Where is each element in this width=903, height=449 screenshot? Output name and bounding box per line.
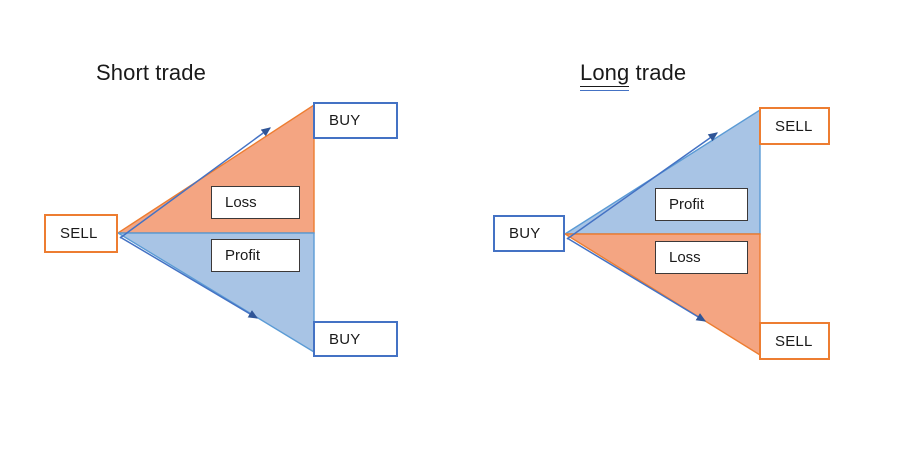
long-trade-profit-label: Profit [669, 196, 704, 213]
long-trade-upper-exit-sell-label: SELL [775, 118, 813, 135]
long-trade-upper-exit-sell-box[interactable]: SELL [759, 107, 830, 145]
long-trade-loss-label-box: Loss [655, 241, 748, 274]
short-trade-loss-label-box: Loss [211, 186, 300, 219]
long-trade-loss-label: Loss [669, 249, 701, 266]
diagram-canvas: Short trade SELL BUY BUY [0, 0, 903, 449]
panel-long-trade: Long trade BUY SELL SELL [452, 0, 903, 449]
short-trade-upper-exit-buy-label: BUY [329, 112, 360, 129]
long-trade-entry-buy-box[interactable]: BUY [493, 215, 565, 252]
long-trade-profit-label-box: Profit [655, 188, 748, 221]
short-trade-profit-label: Profit [225, 247, 260, 264]
short-trade-entry-sell-label: SELL [60, 225, 98, 242]
short-trade-upper-exit-buy-box[interactable]: BUY [313, 102, 398, 139]
long-trade-lower-exit-sell-box[interactable]: SELL [759, 322, 830, 360]
short-trade-entry-sell-box[interactable]: SELL [44, 214, 118, 253]
long-trade-entry-buy-label: BUY [509, 225, 540, 242]
short-trade-lower-exit-buy-box[interactable]: BUY [313, 321, 398, 357]
short-trade-profit-label-box: Profit [211, 239, 300, 272]
short-trade-lower-exit-buy-label: BUY [329, 331, 360, 348]
long-trade-lower-exit-sell-label: SELL [775, 333, 813, 350]
short-trade-loss-label: Loss [225, 194, 257, 211]
panel-short-trade: Short trade SELL BUY BUY [0, 0, 452, 449]
